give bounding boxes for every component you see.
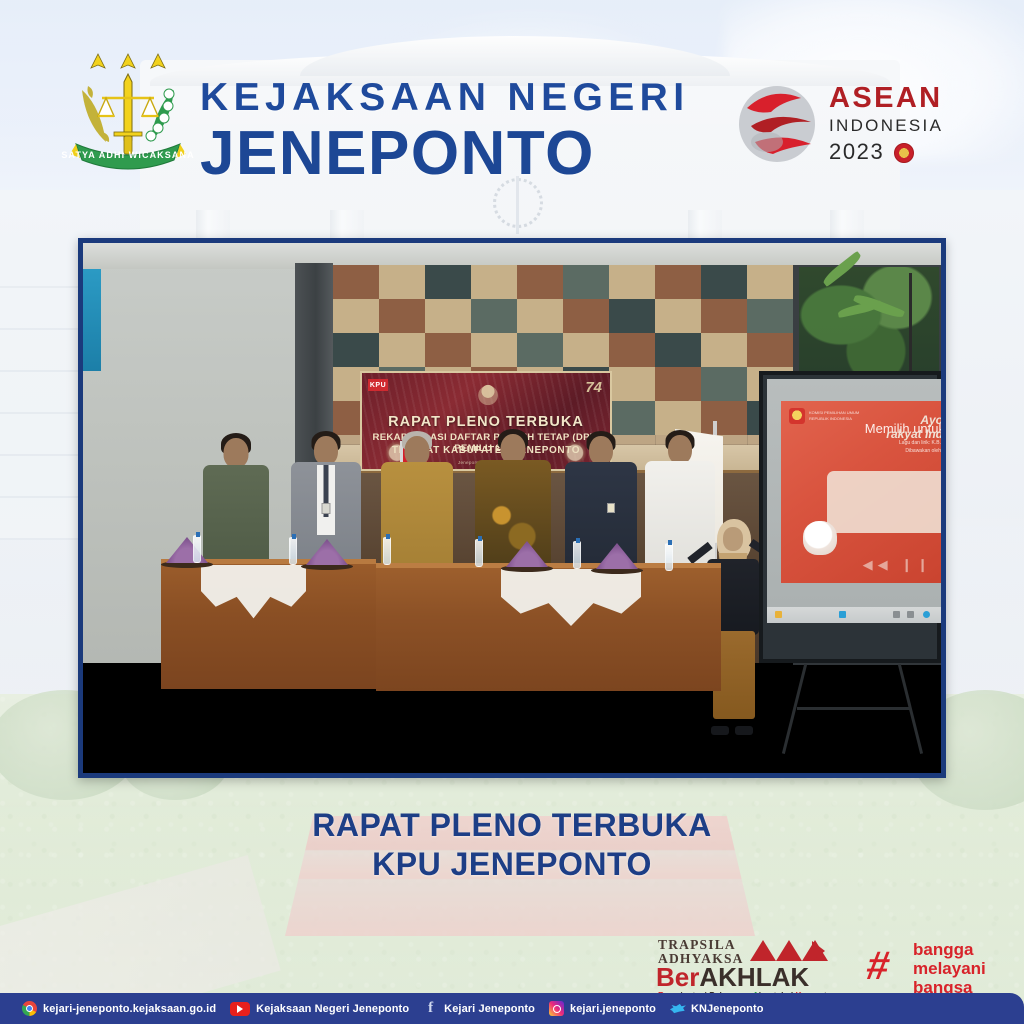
trapsila-line-1: TRAPSILA (658, 938, 744, 952)
media-controls-icon: ◀◀ ❙❙ (863, 557, 933, 573)
bangga-line-1: bangga (913, 940, 986, 959)
projector-subtext: Lagu dan lirik: K.B. Dibawakan oleh (899, 439, 941, 455)
hashtag-icon: # (863, 946, 892, 986)
kpu-crest-icon (474, 381, 502, 407)
chevron-arrows-icon (750, 940, 830, 962)
footer-bar: kejari-jeneponto.kejaksaan.go.id Kejaksa… (0, 993, 1024, 1024)
caption-line-1: RAPAT PLENO TERBUKA (0, 806, 1024, 845)
plant-decoration (799, 267, 939, 387)
main-photo: KPU 74 RAPAT PLENO TERBUKA REKAPITULASI … (78, 238, 946, 778)
asean-year: 2023 (829, 139, 884, 164)
projector-screen: KOMISI PEMILIHAN UMUM REPUBLIK INDONESIA… (767, 379, 941, 623)
instagram-icon (549, 1001, 564, 1016)
footer-item-website[interactable]: kejari-jeneponto.kejaksaan.go.id (22, 1001, 216, 1016)
berakhlak-prefix: Ber (656, 962, 699, 992)
asean-logo-icon (733, 80, 825, 166)
youtube-label: Kejaksaan Negeri Jeneponto (256, 1003, 409, 1015)
footer-item-facebook[interactable]: f Kejari Jeneponto (423, 1001, 535, 1016)
facebook-label: Kejari Jeneponto (444, 1003, 535, 1015)
header: SATYA ADHI WICAKSANA KEJAKSAAN NEGERI JE… (0, 0, 1024, 190)
title-line-2: JENEPONTO (200, 121, 689, 186)
instagram-label: kejari.jeneponto (570, 1003, 656, 1015)
asean-year-row: 2023 (829, 139, 943, 165)
water-bottle (383, 537, 391, 565)
water-bottle (475, 539, 483, 567)
caption-line-2: KPU JENEPONTO (0, 845, 1024, 884)
berakhlak-main: AKHLAK (699, 962, 809, 992)
banner-title: RAPAT PLENO TERBUKA (362, 414, 610, 430)
bangga-melayani-bangsa-logo: # bangga melayani bangsa (867, 940, 1017, 992)
projector-org: KOMISI PEMILIHAN UMUM REPUBLIK INDONESIA (809, 410, 859, 422)
chrome-icon (22, 1001, 37, 1016)
water-bottle (573, 541, 581, 569)
kejaksaan-logo-icon: SATYA ADHI WICAKSANA (58, 48, 198, 173)
page-title: KEJAKSAAN NEGERI JENEPONTO (200, 78, 689, 186)
footer-item-twitter[interactable]: KNJeneponto (670, 1001, 764, 1016)
youtube-icon (230, 1002, 250, 1016)
water-bottle (289, 537, 297, 565)
projector-taskbar (767, 607, 941, 623)
logo-motto: SATYA ADHI WICAKSANA (61, 150, 194, 160)
facebook-icon: f (423, 1001, 438, 1016)
projector-card (827, 471, 941, 533)
water-bottle (665, 543, 673, 571)
banner-kpu-badge: KPU (368, 379, 388, 391)
asean-name: ASEAN (829, 84, 943, 113)
twitter-icon (670, 1001, 685, 1016)
footer-item-instagram[interactable]: kejari.jeneponto (549, 1001, 656, 1016)
asean-country: INDONESIA (829, 113, 943, 139)
water-bottle (193, 535, 201, 563)
bangga-text: bangga melayani bangsa (913, 940, 986, 997)
twitter-label: KNJeneponto (691, 1003, 764, 1015)
footer-item-youtube[interactable]: Kejaksaan Negeri Jeneponto (230, 1002, 409, 1016)
title-line-1: KEJAKSAAN NEGERI (200, 78, 689, 117)
asean-seal-icon (894, 143, 914, 163)
wall-accent (83, 251, 101, 371)
asean-badge: ASEAN INDONESIA 2023 (733, 80, 953, 172)
mascot-icon (803, 521, 837, 555)
banner-anniversary: 74 (585, 379, 602, 396)
brand-logos: TRAPSILA ADHYAKSA BerAKHLAK Berorientasi… (652, 940, 1012, 992)
bangga-line-2: melayani (913, 959, 986, 978)
kpu-logo-icon (789, 408, 805, 424)
projected-video: KOMISI PEMILIHAN UMUM REPUBLIK INDONESIA… (781, 401, 941, 583)
berakhlak-logo: BerAKHLAK (656, 964, 809, 990)
website-label: kejari-jeneponto.kejaksaan.go.id (43, 1003, 216, 1015)
projector-card-text: Ayo rakyat Ind (886, 413, 941, 441)
projector-screen-stand (783, 663, 923, 759)
caption: RAPAT PLENO TERBUKA KPU JENEPONTO (0, 806, 1024, 884)
